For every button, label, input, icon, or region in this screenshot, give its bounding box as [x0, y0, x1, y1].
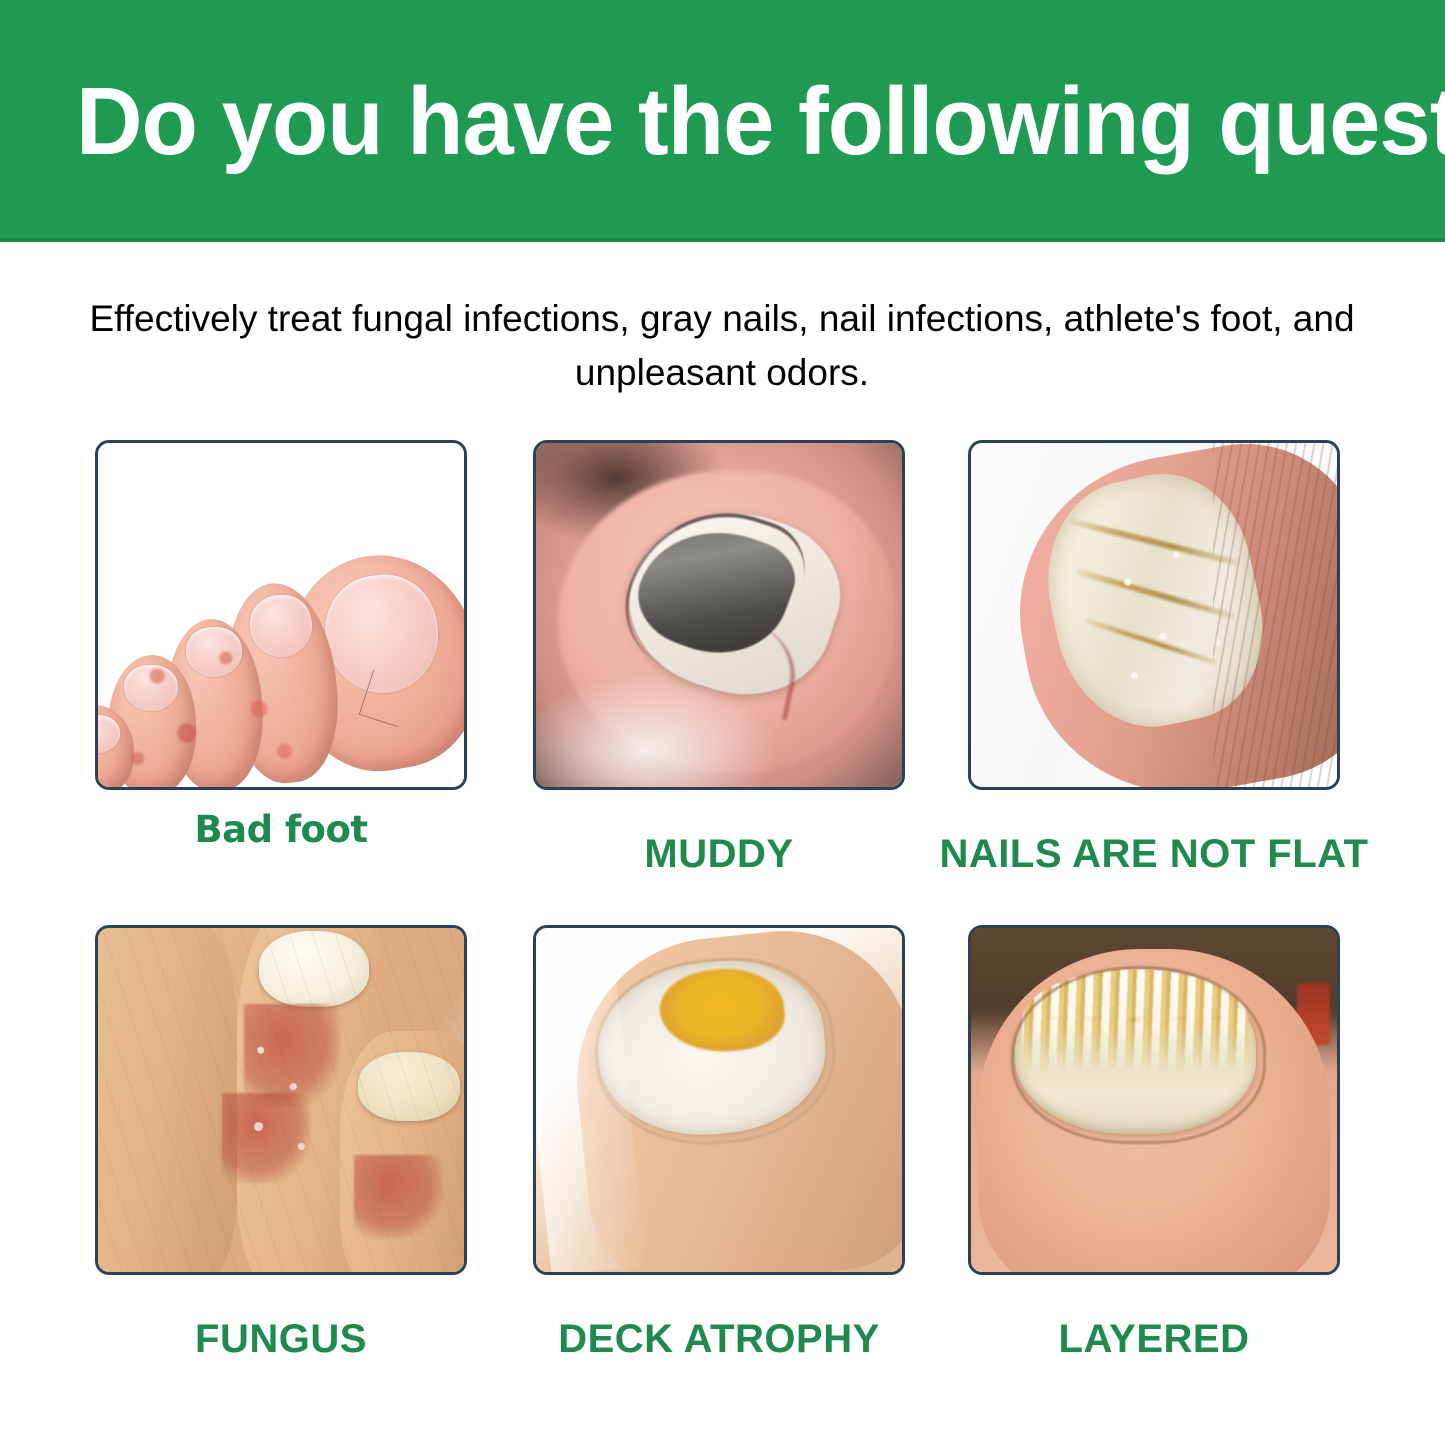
card-frame [95, 440, 467, 790]
photo-ridged-thick-nail [971, 443, 1337, 787]
page-title: Do you have the following questions [76, 70, 1343, 174]
symptom-card-layered[interactable]: LAYERED [968, 925, 1340, 1275]
card-frame [533, 440, 905, 790]
card-caption: FUNGUS [65, 1317, 497, 1362]
card-frame [968, 440, 1340, 790]
photo-crumbling-layered-nail [971, 928, 1337, 1272]
header-banner: Do you have the following questions [0, 0, 1445, 242]
card-caption: NAILS ARE NOT FLAT [938, 832, 1370, 877]
card-row-1: Bad foot MUDDY [0, 440, 1445, 925]
card-caption: LAYERED [938, 1317, 1370, 1362]
card-frame [968, 925, 1340, 1275]
symptom-card-grid: Bad foot MUDDY [0, 440, 1445, 1410]
card-frame [95, 925, 467, 1275]
symptom-card-deck-atrophy[interactable]: DECK ATROPHY [533, 925, 905, 1275]
card-caption: Bad foot [65, 808, 497, 851]
card-caption: MUDDY [503, 832, 935, 877]
card-row-2: FUNGUS DECK ATROPHY [0, 925, 1445, 1410]
card-caption: DECK ATROPHY [503, 1317, 935, 1362]
subtitle-text: Effectively treat fungal infections, gra… [72, 292, 1372, 400]
photo-interdigital-fungus [98, 928, 464, 1272]
symptom-card-nails-are-not-flat[interactable]: NAILS ARE NOT FLAT [968, 440, 1340, 790]
photo-yellow-patch-nail [536, 928, 902, 1272]
symptom-card-muddy[interactable]: MUDDY [533, 440, 905, 790]
photo-dark-lifted-nail [536, 443, 902, 787]
card-frame [533, 925, 905, 1275]
symptom-card-fungus[interactable]: FUNGUS [95, 925, 467, 1275]
symptom-card-bad-foot[interactable]: Bad foot [95, 440, 467, 790]
photo-toes-athletes-foot [98, 443, 464, 787]
